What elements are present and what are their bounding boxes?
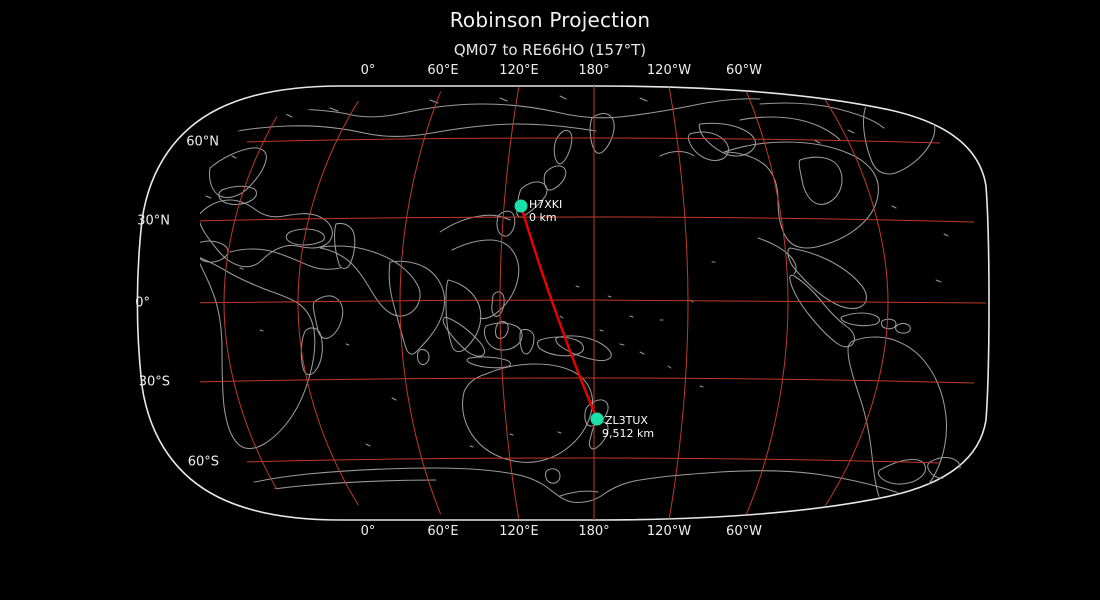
lon-tick-top-60e: 60°E	[427, 63, 458, 78]
lat-tick-30n: 30°N	[60, 214, 170, 229]
lon-tick-top-120e: 120°E	[499, 63, 539, 78]
lon-tick-top-60w: 60°W	[726, 63, 762, 78]
lat-tick-30s: 30°S	[60, 375, 170, 390]
station-distance-h7xki: 0 km	[529, 212, 562, 225]
robinson-projection-figure: Robinson Projection QM07 to RE66HO (157°…	[0, 0, 1100, 600]
lon-tick-bottom-120w: 120°W	[647, 524, 691, 539]
station-distance-zl3tux: 9,512 km	[602, 428, 654, 441]
station-callsign-zl3tux: ZL3TUX	[605, 415, 654, 428]
station-label-h7xki: H7XKI 0 km	[529, 199, 562, 224]
lon-tick-top-120w: 120°W	[647, 63, 691, 78]
lat-tick-60n: 60°N	[119, 135, 219, 150]
map-outline	[138, 86, 990, 520]
station-callsign-h7xki: H7XKI	[529, 199, 562, 212]
lon-tick-bottom-0: 0°	[361, 524, 376, 539]
map-canvas	[0, 0, 1100, 600]
lon-tick-bottom-180: 180°	[578, 524, 609, 539]
lon-tick-top-0: 0°	[361, 63, 376, 78]
lat-tick-60s: 60°S	[119, 455, 219, 470]
lon-tick-bottom-60e: 60°E	[427, 524, 458, 539]
station-label-zl3tux: ZL3TUX 9,512 km	[605, 415, 654, 440]
station-marker-zl3tux[interactable]	[591, 413, 604, 426]
lat-tick-0: 0°	[40, 296, 150, 311]
station-marker-h7xki[interactable]	[515, 200, 528, 213]
lon-tick-bottom-120e: 120°E	[499, 524, 539, 539]
lon-tick-top-180: 180°	[578, 63, 609, 78]
lon-tick-bottom-60w: 60°W	[726, 524, 762, 539]
